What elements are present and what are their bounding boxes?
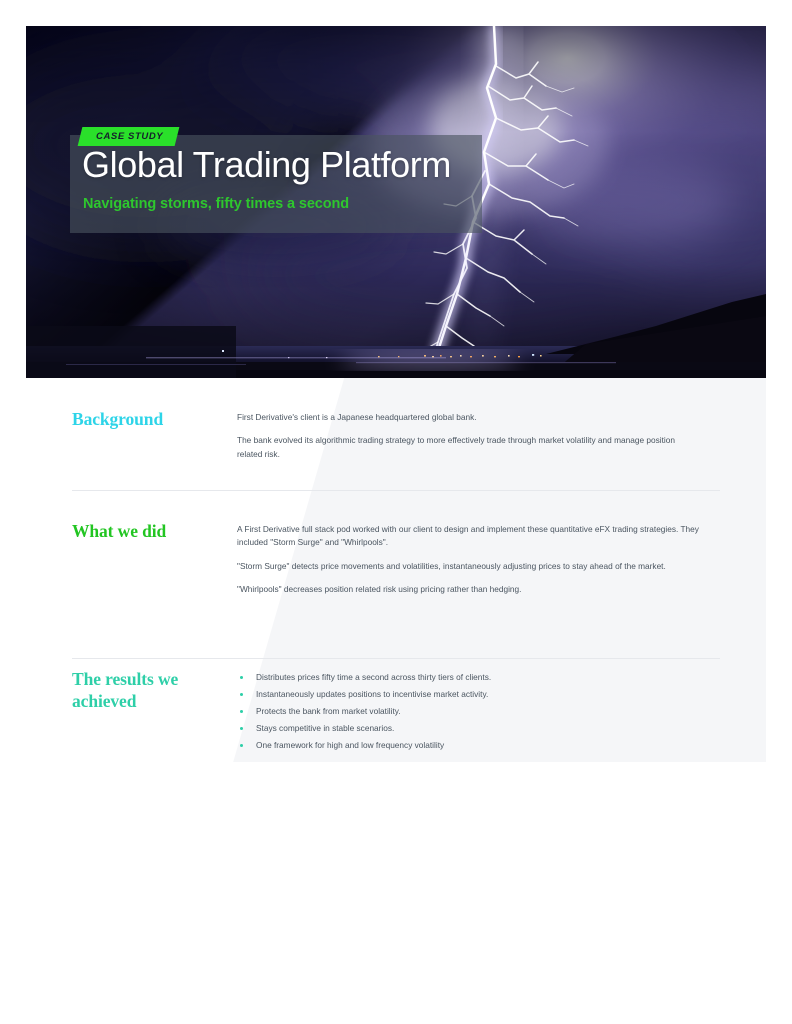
section-body-background: First Derivative's client is a Japanese … bbox=[237, 408, 720, 461]
paragraph: "Whirlpools" decreases position related … bbox=[237, 583, 701, 596]
case-study-badge: CASE STUDY bbox=[78, 127, 180, 146]
page-subtitle: Navigating storms, fifty times a second bbox=[83, 196, 349, 212]
section-body-results: Distributes prices fifty time a second a… bbox=[237, 668, 720, 756]
list-item: Instantaneously updates positions to inc… bbox=[237, 688, 720, 701]
results-bullet-list: Distributes prices fifty time a second a… bbox=[237, 671, 720, 752]
case-study-badge-label: CASE STUDY bbox=[96, 131, 163, 142]
hero-banner: CASE STUDY Global Trading Platform Navig… bbox=[26, 26, 766, 378]
list-item: Distributes prices fifty time a second a… bbox=[237, 671, 720, 684]
section-heading-results: The results we achieved bbox=[72, 668, 237, 756]
paragraph: The bank evolved its algorithmic trading… bbox=[237, 434, 701, 461]
list-item: Stays competitive in stable scenarios. bbox=[237, 722, 720, 735]
case-study-card: CASE STUDY Global Trading Platform Navig… bbox=[26, 26, 766, 762]
list-item: One framework for high and low frequency… bbox=[237, 739, 720, 752]
paragraph: First Derivative's client is a Japanese … bbox=[237, 411, 701, 424]
page-root: CASE STUDY Global Trading Platform Navig… bbox=[0, 0, 792, 1024]
paragraph: A First Derivative full stack pod worked… bbox=[237, 523, 701, 550]
section-divider bbox=[72, 658, 720, 659]
list-item: Protects the bank from market volatility… bbox=[237, 705, 720, 718]
case-study-body: Background First Derivative's client is … bbox=[26, 378, 766, 762]
page-title: Global Trading Platform bbox=[82, 146, 451, 184]
section-results: The results we achieved Distributes pric… bbox=[72, 668, 720, 756]
section-background: Background First Derivative's client is … bbox=[72, 408, 720, 461]
section-body-what-we-did: A First Derivative full stack pod worked… bbox=[237, 520, 720, 597]
section-heading-background: Background bbox=[72, 408, 237, 461]
section-heading-what-we-did: What we did bbox=[72, 520, 237, 597]
paragraph: "Storm Surge" detects price movements an… bbox=[237, 560, 701, 573]
section-what-we-did: What we did A First Derivative full stac… bbox=[72, 520, 720, 597]
section-divider bbox=[72, 490, 720, 491]
